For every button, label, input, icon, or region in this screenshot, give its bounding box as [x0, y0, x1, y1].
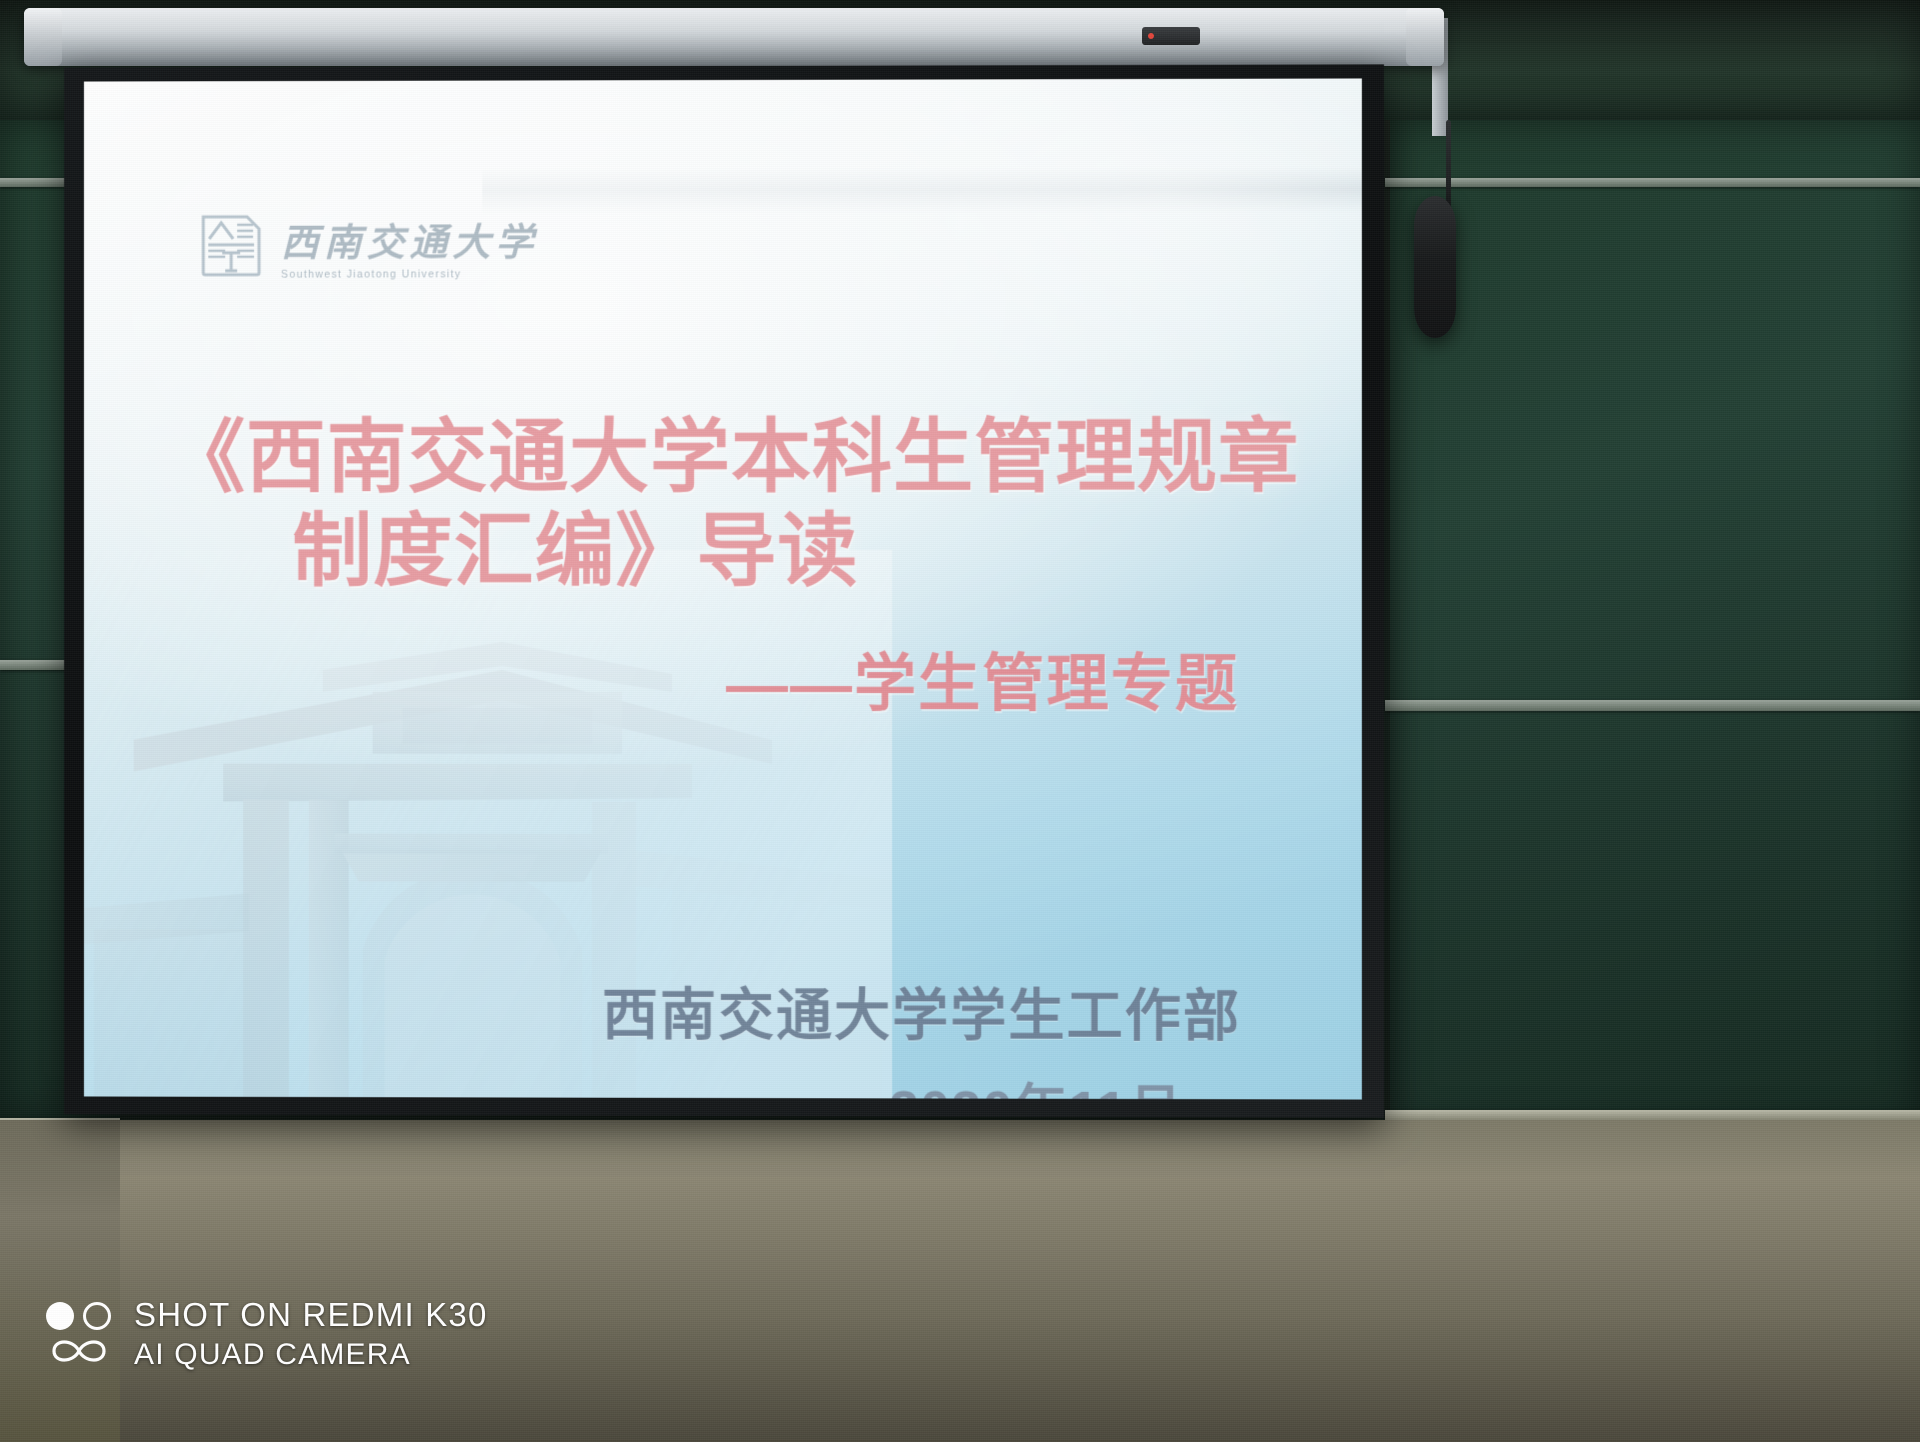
roller-badge: [1142, 27, 1200, 45]
slide-footer-block: 西南交通大学学生工作部 2020年11月: [602, 970, 1241, 1100]
university-logo: 西南交通大学 Southwest Jiaotong University: [195, 208, 538, 282]
device-watermark: SHOT ON REDMI K30 AI QUAD CAMERA: [46, 1296, 488, 1372]
wall-lower-section: [0, 1120, 1920, 1442]
slide-subtitle: ——学生管理专题: [84, 633, 1362, 724]
board-divider: [1385, 178, 1920, 187]
ai-infinity-icon: [46, 1336, 112, 1366]
slide-title-line-1: 《西南交通大学本科生管理规章: [84, 409, 1362, 504]
camera-dot-hollow-icon: [83, 1302, 111, 1330]
roller-end-cap-left: [24, 8, 62, 66]
slide-footer-organization: 西南交通大学学生工作部: [602, 970, 1241, 1052]
photograph-of-classroom-projection: 西南交通大学 Southwest Jiaotong University 《西南…: [0, 0, 1920, 1442]
logo-name-en: Southwest Jiaotong University: [281, 268, 538, 280]
slide-title-line-2: 制度汇编》导读: [84, 504, 1362, 599]
camera-dots-row: [46, 1302, 112, 1330]
swjtu-emblem-icon: [195, 209, 267, 283]
wall-lower-left-section: [0, 1120, 120, 1442]
watermark-icon-group: [46, 1302, 112, 1366]
board-divider: [1385, 700, 1920, 711]
watermark-line-2: AI QUAD CAMERA: [134, 1338, 488, 1372]
watermark-text-group: SHOT ON REDMI K30 AI QUAD CAMERA: [134, 1296, 488, 1372]
logo-name-cn: 西南交通大学: [281, 211, 538, 266]
projection-screen-surface: 西南交通大学 Southwest Jiaotong University 《西南…: [84, 78, 1362, 1099]
slide-title-block: 《西南交通大学本科生管理规章 制度汇编》导读 ——学生管理专题: [84, 409, 1362, 723]
chalkboard-right-panel: [1390, 120, 1920, 1130]
hanging-cable: [1446, 120, 1451, 210]
roller-indicator-dot: [1148, 33, 1154, 39]
projector-screen-roller-housing: [24, 8, 1444, 66]
camera-dot-filled-icon: [46, 1302, 74, 1330]
slide-top-accent-band: [482, 167, 1362, 215]
slide-footer-date: 2020年11月: [602, 1065, 1241, 1100]
microphone-device: [1414, 196, 1456, 338]
presentation-slide: 西南交通大学 Southwest Jiaotong University 《西南…: [84, 78, 1362, 1099]
roller-end-cap-right: [1406, 8, 1444, 66]
projection-screen-frame: 西南交通大学 Southwest Jiaotong University 《西南…: [64, 64, 1384, 1117]
watermark-line-1: SHOT ON REDMI K30: [134, 1296, 488, 1334]
